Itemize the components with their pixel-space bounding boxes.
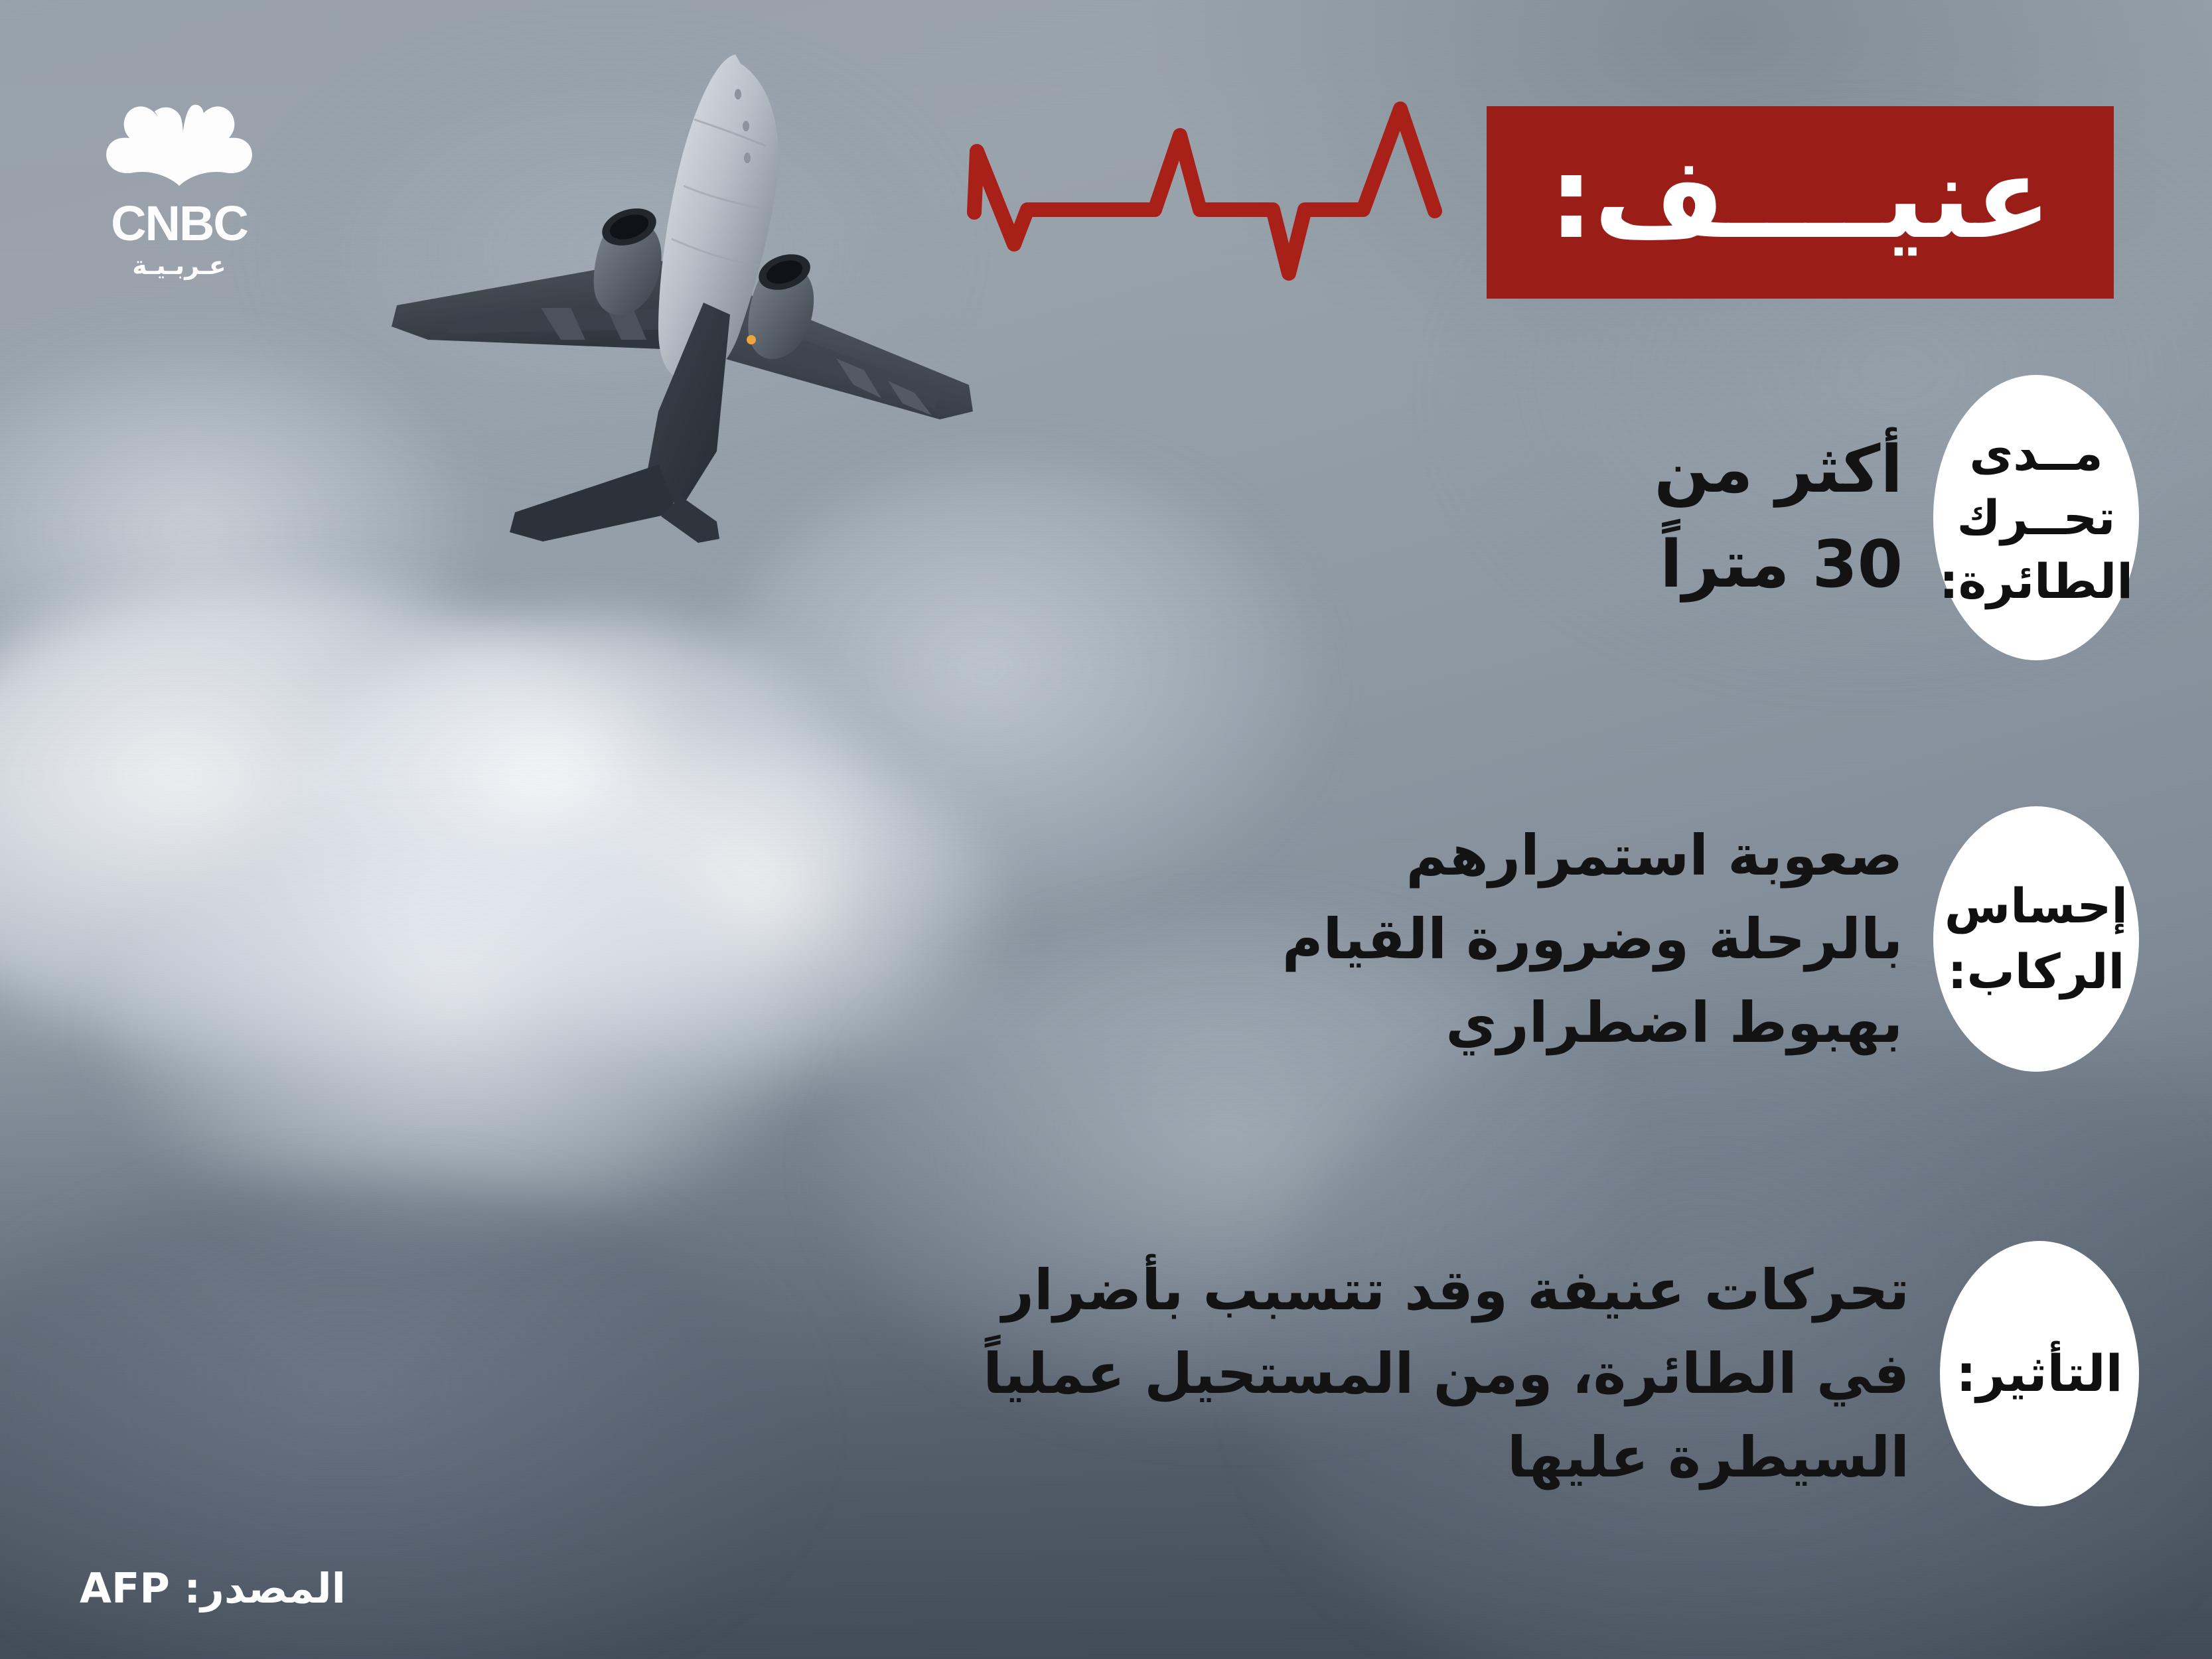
detail-line: صعوبة استمرارهم [1282, 814, 1903, 897]
logo-arabic-wordmark: عـربـيـة [93, 251, 265, 280]
detail-line: 30 متراً [1654, 518, 1903, 613]
detail-line: بالرحلة وضرورة القيام [1282, 897, 1903, 981]
fact-detail-aircraft-movement: أكثر من 30 متراً [1654, 423, 1933, 613]
bubble-line: الركاب: [1948, 939, 2125, 1005]
heartbeat-line-icon [962, 80, 1453, 299]
bubble-line: تحــرك [1957, 486, 2116, 549]
headline-banner: عنيــــف: [1487, 106, 2114, 299]
detail-line: أكثر من [1654, 423, 1903, 518]
detail-line: تحركات عنيفة وقد تتسبب بأضرار [983, 1248, 1909, 1332]
bubble-line: إحساس [1945, 873, 2128, 939]
fact-row-passenger-feeling: إحساس الركاب: صعوبة استمرارهم بالرحلة وض… [1282, 806, 2139, 1072]
label-bubble-aircraft-movement: مــدى تحــرك الطائرة: [1933, 375, 2139, 660]
label-bubble-passenger-feeling: إحساس الركاب: [1933, 806, 2139, 1072]
detail-line: بهبوط اضطراري [1282, 981, 1903, 1064]
detail-line: في الطائرة، ومن المستحيل عملياً [983, 1332, 1909, 1415]
infographic-canvas: CNBC عـربـيـة عنيــــف: مــدى تحــرك الط… [0, 0, 2212, 1659]
headline-text: عنيــــف: [1549, 142, 2052, 255]
cnbc-arabia-logo: CNBC عـربـيـة [93, 100, 265, 280]
nbc-peacock-icon [103, 100, 256, 198]
fact-row-aircraft-movement: مــدى تحــرك الطائرة: أكثر من 30 متراً [1654, 375, 2139, 660]
bubble-line: التأثير: [1956, 1341, 2122, 1407]
bubble-line: مــدى [1969, 421, 2102, 485]
fact-detail-impact: تحركات عنيفة وقد تتسبب بأضرار في الطائرة… [983, 1248, 1940, 1499]
fact-detail-passenger-feeling: صعوبة استمرارهم بالرحلة وضرورة القيام به… [1282, 814, 1933, 1064]
label-bubble-impact: التأثير: [1940, 1241, 2139, 1506]
logo-wordmark: CNBC [93, 200, 265, 247]
source-credit: المصدر: AFP [80, 1564, 346, 1613]
fact-row-impact: التأثير: تحركات عنيفة وقد تتسبب بأضرار ف… [983, 1241, 2139, 1506]
detail-line: السيطرة عليها [983, 1415, 1909, 1499]
bubble-line: الطائرة: [1939, 549, 2133, 613]
